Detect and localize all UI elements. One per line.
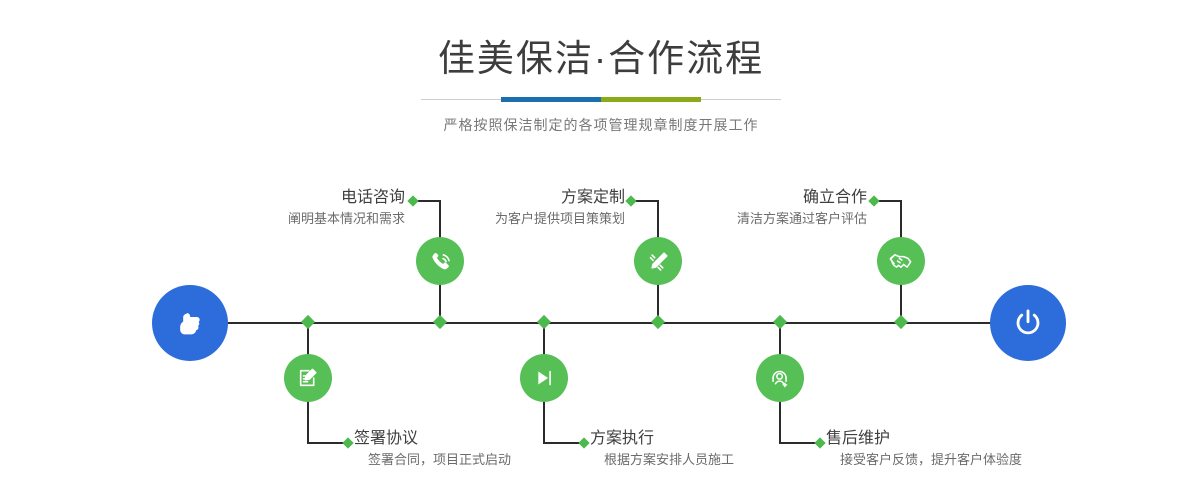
stem-bot-1-lower bbox=[307, 402, 309, 443]
stem-bot-3-horizontal bbox=[779, 442, 819, 444]
process-flow-infographic: 佳美保洁·合作流程 严格按照保洁制定的各项管理规章制度开展工作 bbox=[0, 0, 1202, 502]
label-marker-bot-1 bbox=[342, 437, 353, 448]
axis-marker-bot-3 bbox=[773, 315, 787, 329]
label-step-top-1: 电话咨询 阐明基本情况和需求 bbox=[150, 187, 405, 229]
phone-call-icon bbox=[427, 248, 454, 275]
node-phone-consultation[interactable] bbox=[416, 237, 464, 285]
stem-top-3-upper bbox=[900, 200, 902, 240]
label-step-top-3: 确立合作 清洁方案通过客户评估 bbox=[612, 187, 867, 229]
divider-accent-olive bbox=[601, 97, 701, 102]
stem-bot-1-horizontal bbox=[307, 442, 347, 444]
step-title: 售后维护 bbox=[826, 428, 1156, 450]
node-sign-agreement[interactable] bbox=[284, 354, 332, 402]
flow-end-endpoint bbox=[990, 285, 1066, 361]
step-desc: 接受客户反馈，提升客户体验度 bbox=[826, 450, 1156, 470]
step-desc: 阐明基本情况和需求 bbox=[150, 209, 405, 229]
stem-bot-3-lower bbox=[779, 402, 781, 443]
power-icon bbox=[1008, 303, 1048, 343]
stem-top-3-horizontal bbox=[877, 200, 902, 202]
step-title: 方案定制 bbox=[370, 187, 625, 209]
node-plan-execution[interactable] bbox=[520, 354, 568, 402]
node-plan-customization[interactable] bbox=[634, 237, 682, 285]
step-title: 确立合作 bbox=[612, 187, 867, 209]
axis-marker-bot-2 bbox=[537, 315, 551, 329]
handshake-icon bbox=[887, 247, 915, 275]
step-desc: 清洁方案通过客户评估 bbox=[612, 209, 867, 229]
node-establish-cooperation[interactable] bbox=[877, 237, 925, 285]
axis-marker-bot-1 bbox=[301, 315, 315, 329]
stem-bot-2-lower bbox=[543, 402, 545, 443]
label-step-bot-3: 售后维护 接受客户反馈，提升客户体验度 bbox=[826, 428, 1156, 470]
step-desc: 为客户提供项目策策划 bbox=[370, 209, 625, 229]
axis-marker-top-2 bbox=[651, 315, 665, 329]
pencil-edit-icon bbox=[645, 248, 672, 275]
document-sign-icon bbox=[295, 365, 321, 391]
flow-start-endpoint bbox=[152, 285, 228, 361]
label-step-top-2: 方案定制 为客户提供项目策策划 bbox=[370, 187, 625, 229]
label-marker-top-3 bbox=[868, 195, 879, 206]
pointing-hand-icon bbox=[170, 303, 210, 343]
customer-service-icon bbox=[767, 365, 793, 391]
axis-marker-top-3 bbox=[894, 315, 908, 329]
step-title: 电话咨询 bbox=[150, 187, 405, 209]
stem-bot-2-horizontal bbox=[543, 442, 583, 444]
page-subtitle: 严格按照保洁制定的各项管理规章制度开展工作 bbox=[0, 115, 1202, 135]
page-title: 佳美保洁·合作流程 bbox=[0, 36, 1202, 82]
axis-marker-top-1 bbox=[433, 315, 447, 329]
node-after-sales-service[interactable] bbox=[756, 354, 804, 402]
divider-accent-blue bbox=[501, 97, 601, 102]
header: 佳美保洁·合作流程 严格按照保洁制定的各项管理规章制度开展工作 bbox=[0, 0, 1202, 135]
play-execute-icon bbox=[531, 365, 557, 391]
title-divider bbox=[421, 96, 781, 104]
